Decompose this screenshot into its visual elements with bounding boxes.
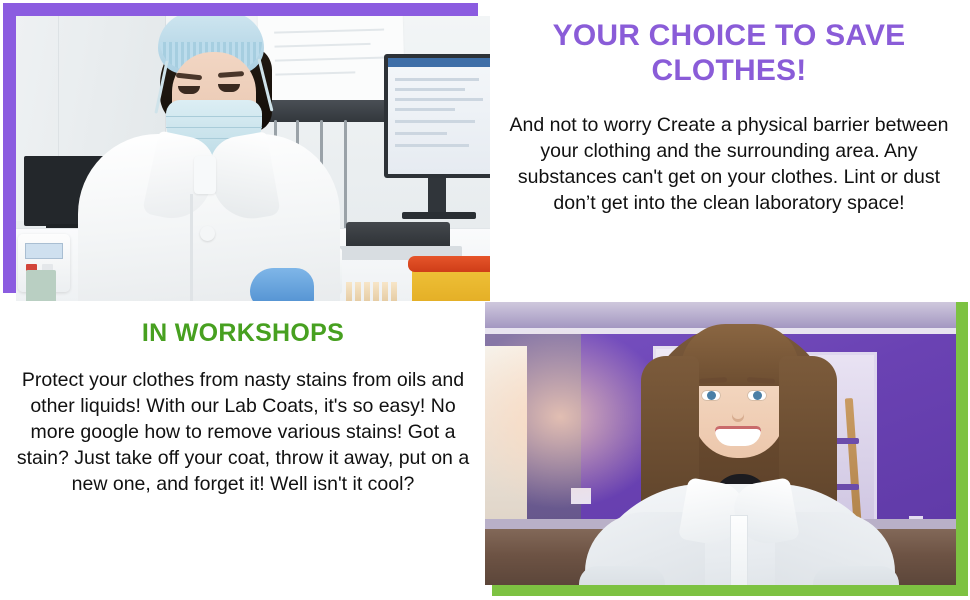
- technician-coat-placket: [190, 194, 193, 301]
- purple-accent-bar-left: [3, 3, 16, 293]
- lab-device-display: [25, 243, 63, 259]
- workshop-room-illustration: [485, 302, 956, 585]
- worker-coat-placket: [731, 516, 747, 585]
- lab-monitor-foot: [402, 212, 476, 219]
- technician-blue-glove: [250, 268, 314, 301]
- lab-green-container: [26, 270, 56, 301]
- lab-scene-illustration: [16, 16, 490, 301]
- green-accent-bar-right: [956, 302, 968, 585]
- lab-monitor-right: [384, 54, 490, 178]
- technician-collar-tab: [194, 156, 216, 194]
- green-accent-bar-bottom: [492, 584, 968, 596]
- worker-nose: [732, 408, 744, 422]
- worker-sleeve-left: [579, 566, 665, 585]
- top-right-text-panel: YOUR CHOICE TO SAVE CLOTHES! And not to …: [498, 18, 960, 290]
- lab-monitor-stand: [428, 178, 446, 214]
- worker-sleeve-right: [813, 566, 899, 585]
- technician-coat-button: [200, 226, 215, 241]
- top-right-headline: YOUR CHOICE TO SAVE CLOTHES!: [498, 18, 960, 89]
- lab-sharps-bin-lid: [408, 256, 490, 272]
- worker-smile: [715, 426, 761, 446]
- bottom-left-text-panel: IN WORKSHOPS Protect your clothes from n…: [8, 318, 478, 588]
- worker-eye-left: [701, 390, 721, 401]
- lab-technician-figure: [72, 16, 342, 301]
- lab-technician-photo: [16, 16, 490, 301]
- top-right-body-text: And not to worry Create a physical barri…: [498, 113, 960, 217]
- lab-screen-titlebar: [388, 58, 490, 67]
- purple-accent-bar-top: [3, 3, 478, 16]
- bottom-left-headline: IN WORKSHOPS: [8, 318, 478, 348]
- lab-test-tube-rack: [346, 278, 406, 301]
- lab-monitor-screen: [388, 58, 490, 174]
- poster-canvas: YOUR CHOICE TO SAVE CLOTHES! And not to …: [0, 0, 970, 600]
- workshop-worker-photo: [485, 302, 956, 585]
- bottom-left-body-text: Protect your clothes from nasty stains f…: [8, 368, 478, 498]
- worker-eye-right: [747, 390, 767, 401]
- workshop-worker-figure: [589, 316, 889, 585]
